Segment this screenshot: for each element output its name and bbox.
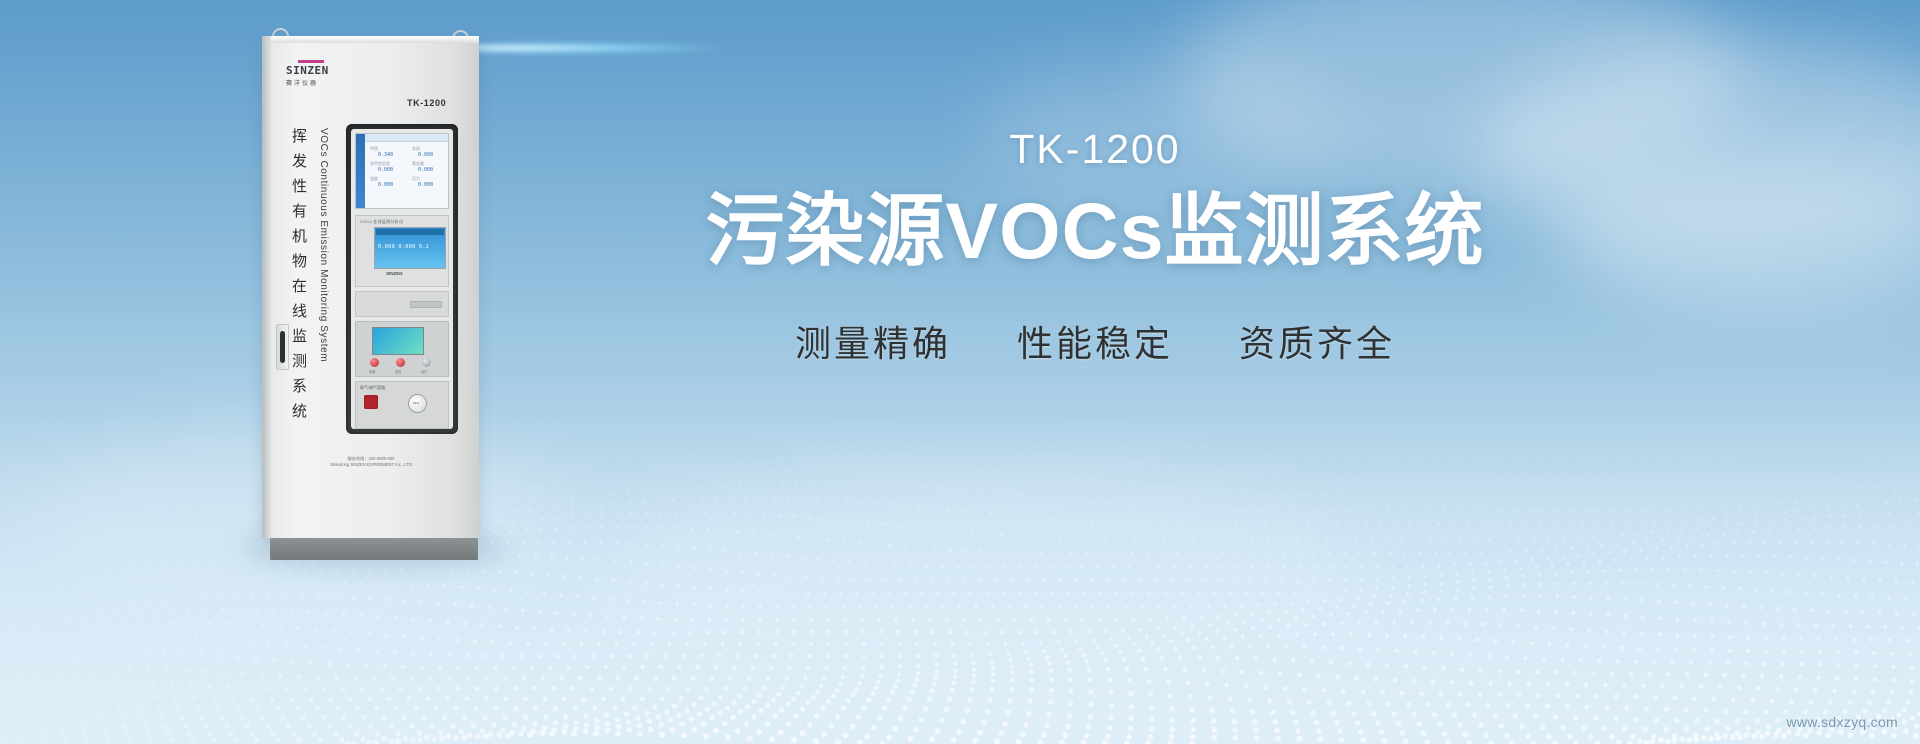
cabinet-footer-line2: Shandong SINZEN EXPERIMENT Inc., LTD xyxy=(286,462,456,468)
cabinet-top-edge xyxy=(262,36,479,43)
control-knob-run[interactable] xyxy=(422,358,431,367)
cabinet-body: SINZEN 赛洋仪器 TK-1200 挥发性有机物在线监测系统 VOCs Co… xyxy=(262,36,479,538)
hero-feature-list: 测量精确 性能稳定 资质齐全 xyxy=(545,315,1645,367)
gc-brand-label: SINZEN xyxy=(386,271,403,276)
control-module: 电源 加热 运行 xyxy=(355,321,449,377)
gas-line-title: 载气/燃气管路 xyxy=(360,385,385,391)
brand-logo: SINZEN 赛洋仪器 xyxy=(286,60,348,87)
logo-accent-bar xyxy=(298,60,324,63)
logo-wordmark: SINZEN xyxy=(286,64,348,77)
gc-display-header xyxy=(376,229,444,235)
door-handle-grip xyxy=(280,331,285,363)
knob-label: 电源 xyxy=(369,369,375,374)
hero-banner: SINZEN 赛洋仪器 TK-1200 挥发性有机物在线监测系统 VOCs Co… xyxy=(0,0,1920,744)
hmi-label: 甲烷 xyxy=(370,146,378,152)
knob-label: 加热 xyxy=(395,369,401,374)
cabinet-base-plinth xyxy=(270,538,478,560)
product-cabinet: SINZEN 赛洋仪器 TK-1200 挥发性有机物在线监测系统 VOCs Co… xyxy=(262,28,482,558)
cabinet-left-edge xyxy=(262,36,271,538)
knob-label: 运行 xyxy=(421,369,427,374)
cabinet-footer-text: 服务热线：400-0000-000 Shandong SINZEN EXPERI… xyxy=(286,456,456,468)
hero-feature-2: 性能稳定 xyxy=(1017,315,1173,367)
hmi-label: 总烃 xyxy=(412,146,420,152)
emergency-stop-button[interactable] xyxy=(364,395,378,409)
hmi-value: 0.000 xyxy=(378,167,393,173)
hmi-label: 氧含量 xyxy=(412,161,424,167)
hero-feature-3: 资质齐全 xyxy=(1239,315,1395,367)
gc-analyzer-unit: VOCs 在线监测分析仪 0.009 0.000 0.2 SINZEN xyxy=(355,215,449,287)
hmi-label: 非甲烷总烃 xyxy=(370,161,390,167)
gc-readout: 0.009 0.000 0.2 xyxy=(378,244,429,250)
cabinet-door-window: 0.340 0.000 0.000 0.000 0.000 0.000 甲烷 总… xyxy=(346,124,458,434)
hero-copy: TK-1200 污染源VOCs监测系统 测量精确 性能稳定 资质齐全 xyxy=(545,126,1645,367)
gc-display: 0.009 0.000 0.2 xyxy=(374,227,446,269)
hmi-touch-panel: 0.340 0.000 0.000 0.000 0.000 0.000 甲烷 总… xyxy=(355,133,449,209)
gas-line-module: 载气/燃气管路 MPa xyxy=(355,381,449,429)
control-knob-heat[interactable] xyxy=(396,358,405,367)
hero-feature-1: 测量精确 xyxy=(795,315,951,367)
site-watermark: www.sdxzyq.com xyxy=(1786,714,1898,730)
cabinet-vertical-title-cn: 挥发性有机物在线监测系统 xyxy=(290,128,312,428)
pressure-gauge-icon: MPa xyxy=(408,394,427,413)
hero-model-number: TK-1200 xyxy=(545,126,1645,173)
hmi-label: 温度 xyxy=(370,176,378,182)
hmi-titlebar xyxy=(365,134,448,142)
control-knob-power[interactable] xyxy=(370,358,379,367)
door-handle[interactable] xyxy=(276,324,289,370)
gauge-unit-label: MPa xyxy=(413,401,419,405)
hmi-value: 0.000 xyxy=(418,152,433,158)
hmi-value: 0.000 xyxy=(418,167,433,173)
hero-headline: 污染源VOCs监测系统 xyxy=(545,190,1645,273)
module-slot xyxy=(410,301,442,308)
control-display xyxy=(372,327,424,355)
hmi-value: 0.340 xyxy=(378,152,393,158)
cabinet-vertical-title-en: VOCs Continuous Emission Monitoring Syst… xyxy=(318,128,329,362)
hmi-value: 0.000 xyxy=(378,182,393,188)
hmi-value: 0.000 xyxy=(418,182,433,188)
hmi-label: 压力 xyxy=(412,176,420,182)
logo-wordmark-cn: 赛洋仪器 xyxy=(286,78,348,87)
gc-title: VOCs 在线监测分析仪 xyxy=(360,219,403,225)
hmi-sidebar xyxy=(356,134,365,208)
cabinet-model-badge: TK-1200 xyxy=(407,98,446,108)
instrument-stack: 0.340 0.000 0.000 0.000 0.000 0.000 甲烷 总… xyxy=(351,129,453,429)
light-streak-decor xyxy=(458,42,728,54)
blank-module-panel xyxy=(355,291,449,317)
